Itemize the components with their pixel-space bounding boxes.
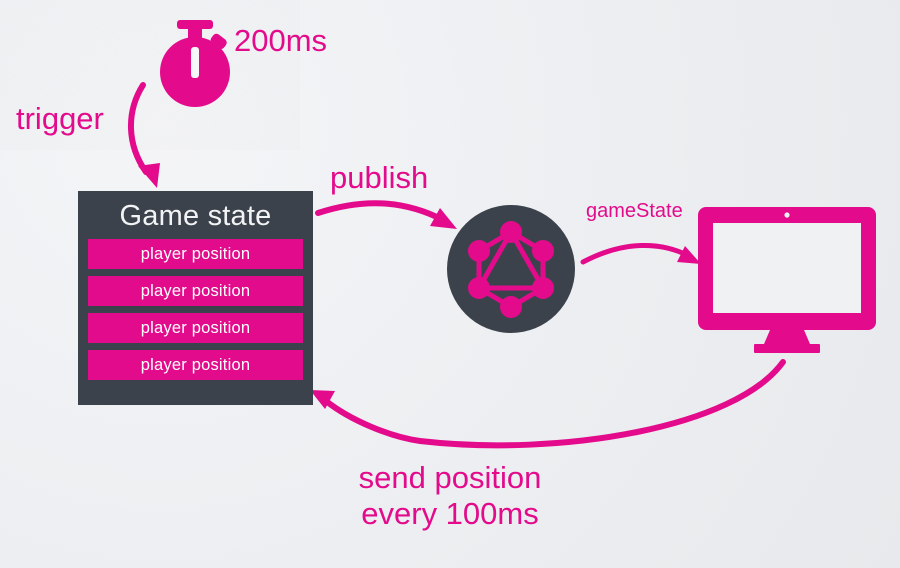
gamestate-label: gameState xyxy=(586,200,683,223)
publish-arrow xyxy=(318,203,457,229)
list-item[interactable]: player position xyxy=(88,239,303,269)
player-position-label: player position xyxy=(141,356,250,375)
game-state-title: Game state xyxy=(88,202,303,231)
send-position-line-1: send position xyxy=(359,460,542,495)
game-state-box: Game state player position player positi… xyxy=(78,191,313,405)
gamestate-arrow xyxy=(583,245,701,264)
player-position-list: player position player position player p… xyxy=(88,239,303,380)
player-position-label: player position xyxy=(141,245,250,264)
graphql-logo-icon xyxy=(447,205,575,333)
desktop-monitor-icon xyxy=(698,207,876,353)
trigger-label: trigger xyxy=(16,101,104,137)
trigger-arrow xyxy=(131,85,160,188)
publish-label: publish xyxy=(330,160,428,196)
send-position-line-2: every 100ms xyxy=(0,496,900,532)
list-item[interactable]: player position xyxy=(88,276,303,306)
send-position-arrow xyxy=(310,362,783,445)
player-position-label: player position xyxy=(141,319,250,338)
send-position-label: send position every 100ms xyxy=(0,460,900,531)
stopwatch-icon xyxy=(160,20,230,107)
player-position-label: player position xyxy=(141,282,250,301)
diagram-canvas: Game state player position player positi… xyxy=(0,0,900,568)
list-item[interactable]: player position xyxy=(88,313,303,343)
timer-interval-label: 200ms xyxy=(234,23,327,59)
list-item[interactable]: player position xyxy=(88,350,303,380)
